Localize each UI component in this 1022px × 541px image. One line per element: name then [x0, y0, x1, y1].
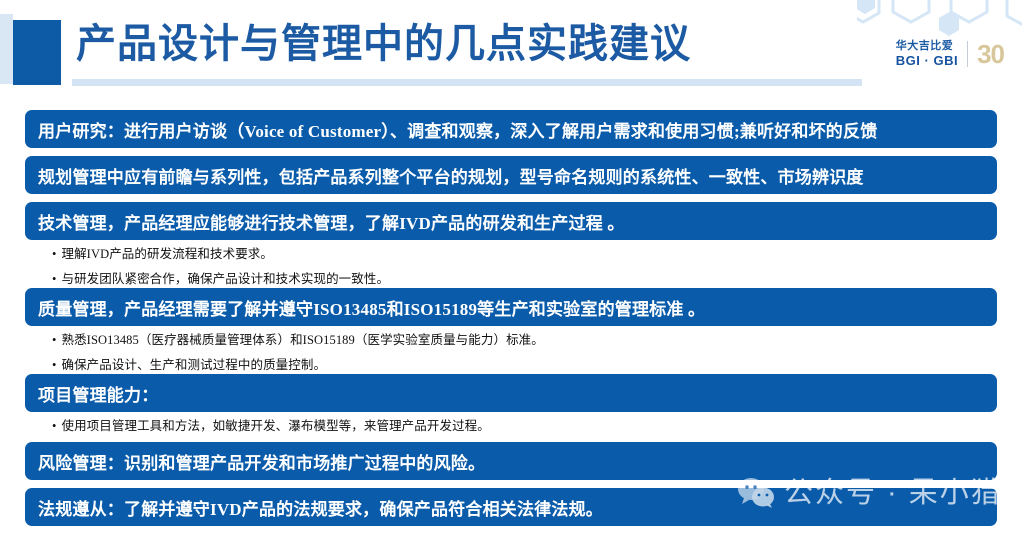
header-left-strip — [0, 14, 13, 84]
row-heading: 法规遵从：了解并遵守IVD产品的法规要求，确保产品符合相关法律法规。 — [38, 495, 603, 520]
sub-bullet-text: 与研发团队紧密合作，确保产品设计和技术实现的一致性。 — [61, 272, 389, 286]
sub-bullet: •熟悉ISO13485（医疗器械质量管理体系）和ISO15189（医学实验室质量… — [52, 328, 992, 353]
list-item[interactable]: 风险管理：识别和管理产品开发和市场推广过程中的风险。 — [25, 442, 997, 480]
slide-header: 产品设计与管理中的几点实践建议 华大吉比爱 BGI · GBI 30 — [0, 0, 1022, 100]
bullet-dot-icon: • — [52, 414, 56, 439]
list-item[interactable]: 技术管理，产品经理应能够进行技术管理，了解IVD产品的研发和生产过程 。 — [25, 202, 997, 240]
sub-bullet-text: 确保产品设计、生产和测试过程中的质量控制。 — [61, 358, 326, 372]
sub-bullet-group: •理解IVD产品的研发流程和技术要求。 •与研发团队紧密合作，确保产品设计和技术… — [52, 242, 992, 292]
content-area: 用户研究：进行用户访谈（Voice of Customer）、调查和观察，深入了… — [0, 100, 1022, 541]
header-underline — [72, 79, 862, 86]
list-item[interactable]: 法规遵从：了解并遵守IVD产品的法规要求，确保产品符合相关法律法规。 — [25, 488, 997, 526]
sub-bullet-text: 理解IVD产品的研发流程和技术要求。 — [61, 247, 273, 261]
row-heading: 技术管理，产品经理应能够进行技术管理，了解IVD产品的研发和生产过程 。 — [38, 209, 625, 234]
anniversary-badge: 30 — [977, 40, 1004, 68]
header-accent-square — [13, 20, 61, 85]
list-item[interactable]: 用户研究：进行用户访谈（Voice of Customer）、调查和观察，深入了… — [25, 110, 997, 148]
row-heading: 项目管理能力： — [38, 381, 158, 406]
page-title: 产品设计与管理中的几点实践建议 — [76, 18, 691, 70]
sub-bullet-text: 熟悉ISO13485（医疗器械质量管理体系）和ISO15189（医学实验室质量与… — [61, 333, 543, 347]
slide: 产品设计与管理中的几点实践建议 华大吉比爱 BGI · GBI 30 — [0, 0, 1022, 541]
row-heading: 规划管理中应有前瞻与系列性，包括产品系列整个平台的规划，型号命名规则的系统性、一… — [38, 163, 864, 188]
list-item[interactable]: 项目管理能力： — [25, 374, 997, 412]
brand-divider — [967, 41, 968, 67]
bullet-dot-icon: • — [52, 242, 56, 267]
row-heading: 质量管理，产品经理需要了解并遵守ISO13485和ISO15189等生产和实验室… — [38, 295, 705, 320]
row-heading: 用户研究：进行用户访谈（Voice of Customer）、调查和观察，深入了… — [38, 117, 877, 142]
sub-bullet-group: •熟悉ISO13485（医疗器械质量管理体系）和ISO15189（医学实验室质量… — [52, 328, 992, 378]
sub-bullet-text: 使用项目管理工具和方法，如敏捷开发、瀑布模型等，来管理产品开发过程。 — [61, 419, 489, 433]
sub-bullet: •理解IVD产品的研发流程和技术要求。 — [52, 242, 992, 267]
sub-bullet: •使用项目管理工具和方法，如敏捷开发、瀑布模型等，来管理产品开发过程。 — [52, 414, 992, 439]
list-item[interactable]: 规划管理中应有前瞻与系列性，包括产品系列整个平台的规划，型号命名规则的系统性、一… — [25, 156, 997, 194]
list-item[interactable]: 质量管理，产品经理需要了解并遵守ISO13485和ISO15189等生产和实验室… — [25, 288, 997, 326]
brand-name-en: BGI · GBI — [896, 53, 958, 68]
brand-logo: 华大吉比爱 BGI · GBI 30 — [896, 34, 1004, 74]
row-heading: 风险管理：识别和管理产品开发和市场推广过程中的风险。 — [38, 449, 485, 474]
brand-name-cn: 华大吉比爱 — [896, 40, 958, 53]
brand-wordmark: 华大吉比爱 BGI · GBI — [896, 40, 958, 68]
sub-bullet-group: •使用项目管理工具和方法，如敏捷开发、瀑布模型等，来管理产品开发过程。 — [52, 414, 992, 439]
bullet-dot-icon: • — [52, 328, 56, 353]
